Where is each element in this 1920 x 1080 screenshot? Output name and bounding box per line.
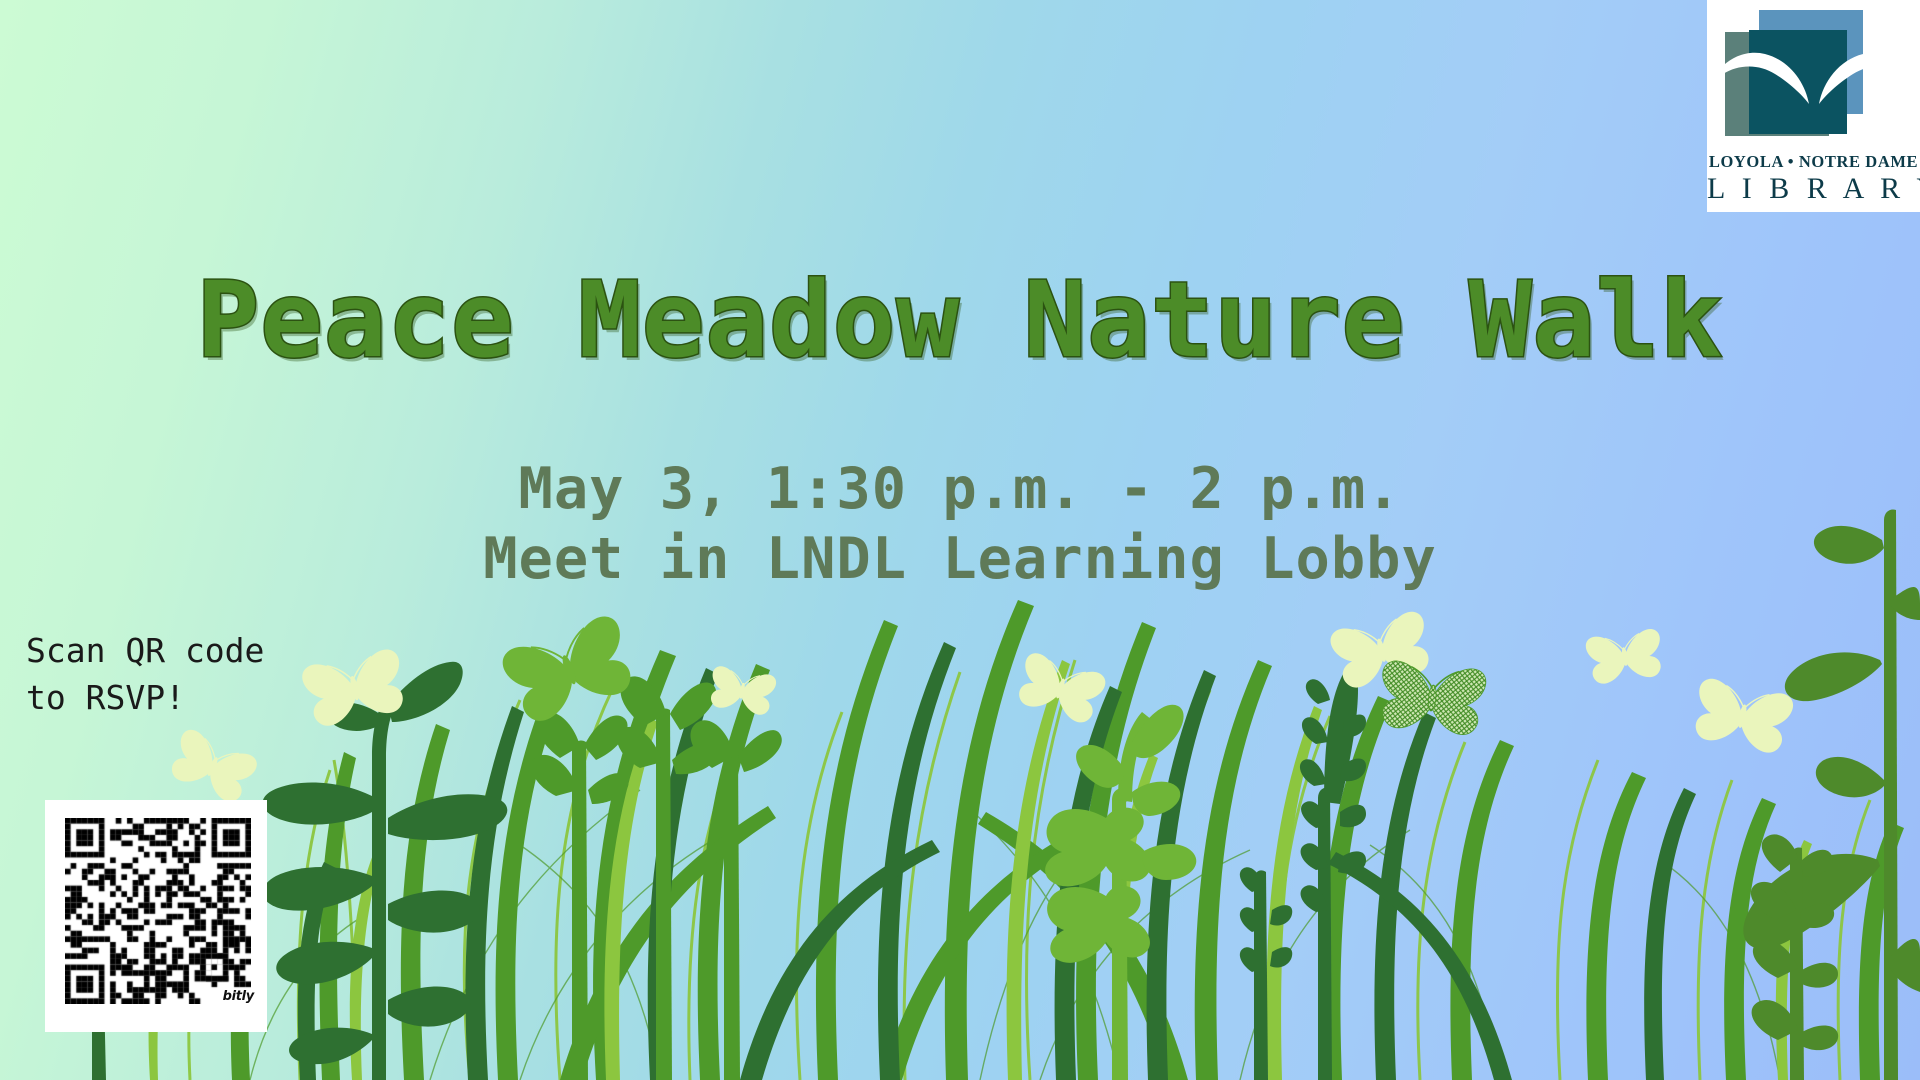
butterfly-pale-upper-right [1328, 609, 1435, 691]
page-title: Peace Meadow Nature Walk [0, 268, 1920, 372]
plant-wildflower-center [1045, 705, 1196, 1080]
butterfly-green-center-left [498, 612, 640, 727]
butterfly-textured-right [1377, 660, 1487, 737]
grass-layer-wisps [250, 790, 1780, 1080]
event-poster: LOYOLA • NOTRE DAME L I B R A R Y Peace … [0, 0, 1920, 1080]
logo-wordmark-bottom: L I B R A R Y [1707, 172, 1920, 206]
library-logo: LOYOLA • NOTRE DAME L I B R A R Y [1707, 0, 1920, 212]
butterfly-pale-lower-left [165, 727, 260, 807]
plant-reed-heads-center-left [531, 676, 782, 1080]
event-datetime: May 3, 1:30 p.m. - 2 p.m. [0, 455, 1920, 525]
butterfly-pale-far-right [1689, 676, 1795, 756]
plant-broadleaf-right [1743, 509, 1920, 1080]
logo-wordmark-top: LOYOLA • NOTRE DAME [1707, 152, 1920, 172]
rsvp-line-2: to RSVP! [26, 675, 264, 722]
plant-bottlebrush-right [1240, 667, 1366, 1080]
qr-code[interactable] [65, 818, 251, 1004]
grass-layer-mid [231, 600, 1904, 1080]
open-book-icon [1723, 42, 1905, 104]
butterfly-pale-right [1585, 628, 1665, 686]
grass-layer-dark [298, 642, 1696, 1080]
logo-mark-icon [1723, 8, 1905, 150]
event-location: Meet in LNDL Learning Lobby [0, 525, 1920, 595]
plant-spiked-stalk-right [1751, 834, 1838, 1080]
plant-broadleaf-left [263, 662, 508, 1080]
butterfly-pale-left [300, 647, 409, 729]
qr-code-card[interactable]: bitly [45, 800, 267, 1032]
butterfly-pale-small [707, 665, 777, 717]
rsvp-line-1: Scan QR code [26, 628, 264, 675]
grass-layer-back [189, 660, 1870, 1080]
butterfly-pale-mid [1013, 650, 1108, 726]
qr-brand-label: bitly [223, 989, 254, 1004]
event-details: May 3, 1:30 p.m. - 2 p.m. Meet in LNDL L… [0, 455, 1920, 594]
grass-layer-bright [149, 660, 1812, 1080]
rsvp-instructions: Scan QR code to RSVP! [26, 628, 264, 722]
